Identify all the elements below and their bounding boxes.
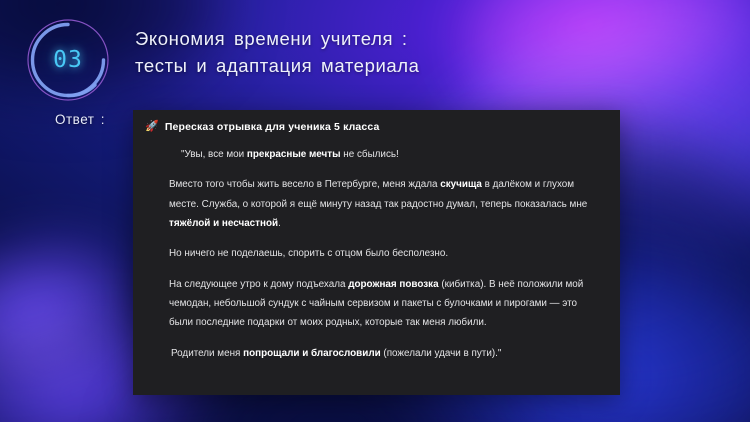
answer-text: Вместо того чтобы жить весело в Петербур… xyxy=(169,179,440,190)
answer-paragraph: На следующее утро к дому подъехала дорож… xyxy=(169,275,592,333)
answer-paragraph: Родители меня попрощали и благословили (… xyxy=(169,344,592,363)
slide-root: 03 Экономия времени учителя : тесты и ад… xyxy=(0,0,750,422)
answer-paragraph: Но ничего не поделаешь, спорить с отцом … xyxy=(169,244,592,263)
answer-label: Ответ : xyxy=(55,112,105,127)
answer-text-bold: скучища xyxy=(440,179,482,190)
answer-text-bold: тяжёлой и несчастной xyxy=(169,218,278,229)
answer-text: не сбылись! xyxy=(341,149,399,160)
answer-card-body: "Увы, все мои прекрасные мечты не сбылис… xyxy=(133,133,620,363)
answer-card-header: 🚀 Пересказ отрывка для ученика 5 класса xyxy=(133,110,620,133)
slide-number-badge: 03 xyxy=(25,17,111,103)
rocket-icon: 🚀 xyxy=(145,121,159,132)
answer-text: На следующее утро к дому подъехала xyxy=(169,279,348,290)
answer-text-bold: попрощали и благословили xyxy=(243,348,381,359)
answer-card-heading: Пересказ отрывка для ученика 5 класса xyxy=(165,121,380,133)
page-title: Экономия времени учителя : тесты и адапт… xyxy=(135,26,565,80)
answer-text: Родители меня xyxy=(171,348,243,359)
answer-text-bold: дорожная повозка xyxy=(348,279,438,290)
answer-paragraph: "Увы, все мои прекрасные мечты не сбылис… xyxy=(169,145,592,164)
answer-text: (пожелали удачи в пути)." xyxy=(381,348,502,359)
answer-text-bold: прекрасные мечты xyxy=(247,149,341,160)
answer-card: 🚀 Пересказ отрывка для ученика 5 класса … xyxy=(133,110,620,395)
page-title-line-2: тесты и адаптация материала xyxy=(135,53,565,80)
answer-paragraph: Вместо того чтобы жить весело в Петербур… xyxy=(169,175,592,233)
answer-text: Но ничего не поделаешь, спорить с отцом … xyxy=(169,248,448,259)
page-title-line-1: Экономия времени учителя : xyxy=(135,26,565,53)
slide-number-text: 03 xyxy=(25,17,111,103)
answer-text: "Увы, все мои xyxy=(181,149,247,160)
answer-text: . xyxy=(278,218,281,229)
